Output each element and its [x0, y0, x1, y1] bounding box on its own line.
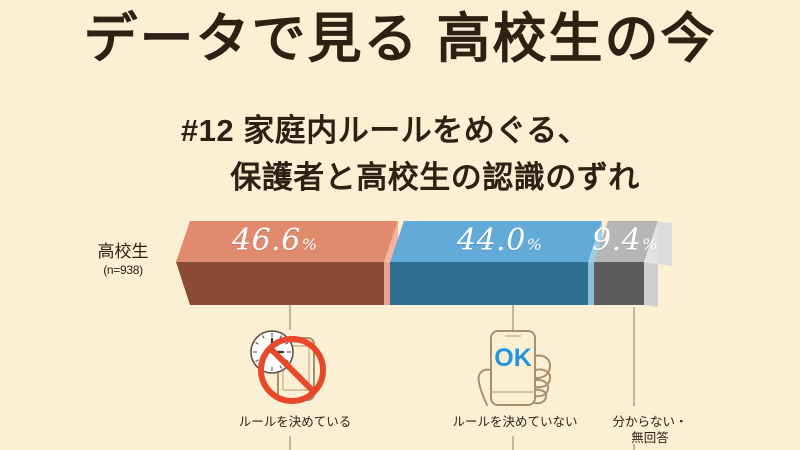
bar-segment-front-0	[176, 262, 384, 305]
category-label-2-line2: 無回答	[631, 431, 669, 445]
bar-value-unit-1: %	[527, 235, 542, 254]
bar-segment-front-1	[390, 262, 588, 305]
infographic-canvas: データで見る 高校生の今 #12 家庭内ルールをめぐる、 保護者と高校生の認識の…	[0, 0, 800, 450]
bar-segment-front-2	[594, 262, 644, 305]
page-subtitle-line1: #12 家庭内ルールをめぐる、	[0, 105, 800, 150]
bar-end-cap-side	[658, 223, 672, 266]
page-title: データで見る 高校生の今	[0, 12, 800, 66]
bar-value-unit-0: %	[302, 235, 317, 254]
bar-segment-cap-0	[384, 221, 398, 305]
bar-segment-cap-shadow-0	[384, 262, 398, 305]
bar-value-number-2: 9.4	[592, 223, 641, 258]
bar-value-label-1: 44.0%	[457, 226, 542, 256]
page-subtitle-line2: 保護者と高校生の認識のずれ	[0, 152, 800, 197]
bar-value-label-2: 9.4%	[592, 226, 657, 256]
category-label-2: 分からない・ 無回答	[585, 414, 715, 447]
phone-ok-label: OK	[494, 344, 532, 372]
bar-row-sample-size: (n=938)	[84, 263, 162, 277]
bar-segment-cap-shadow-1	[588, 262, 602, 305]
clock-phone-prohibited-icon	[240, 326, 350, 408]
bar-end-cap-face	[644, 262, 658, 307]
bar-value-label-0: 46.6%	[232, 226, 317, 256]
bar-row-label-name: 高校生	[84, 243, 162, 261]
bar-row-label: 高校生 (n=938)	[84, 243, 162, 277]
bar-value-unit-2: %	[642, 235, 657, 254]
category-label-2-line1: 分からない・	[612, 415, 687, 429]
category-label-0: ルールを決めている	[195, 414, 395, 430]
hand-phone-ok-icon: OK	[465, 326, 565, 408]
bar-value-number-0: 46.6	[232, 223, 301, 258]
bar-value-number-1: 44.0	[457, 223, 526, 258]
